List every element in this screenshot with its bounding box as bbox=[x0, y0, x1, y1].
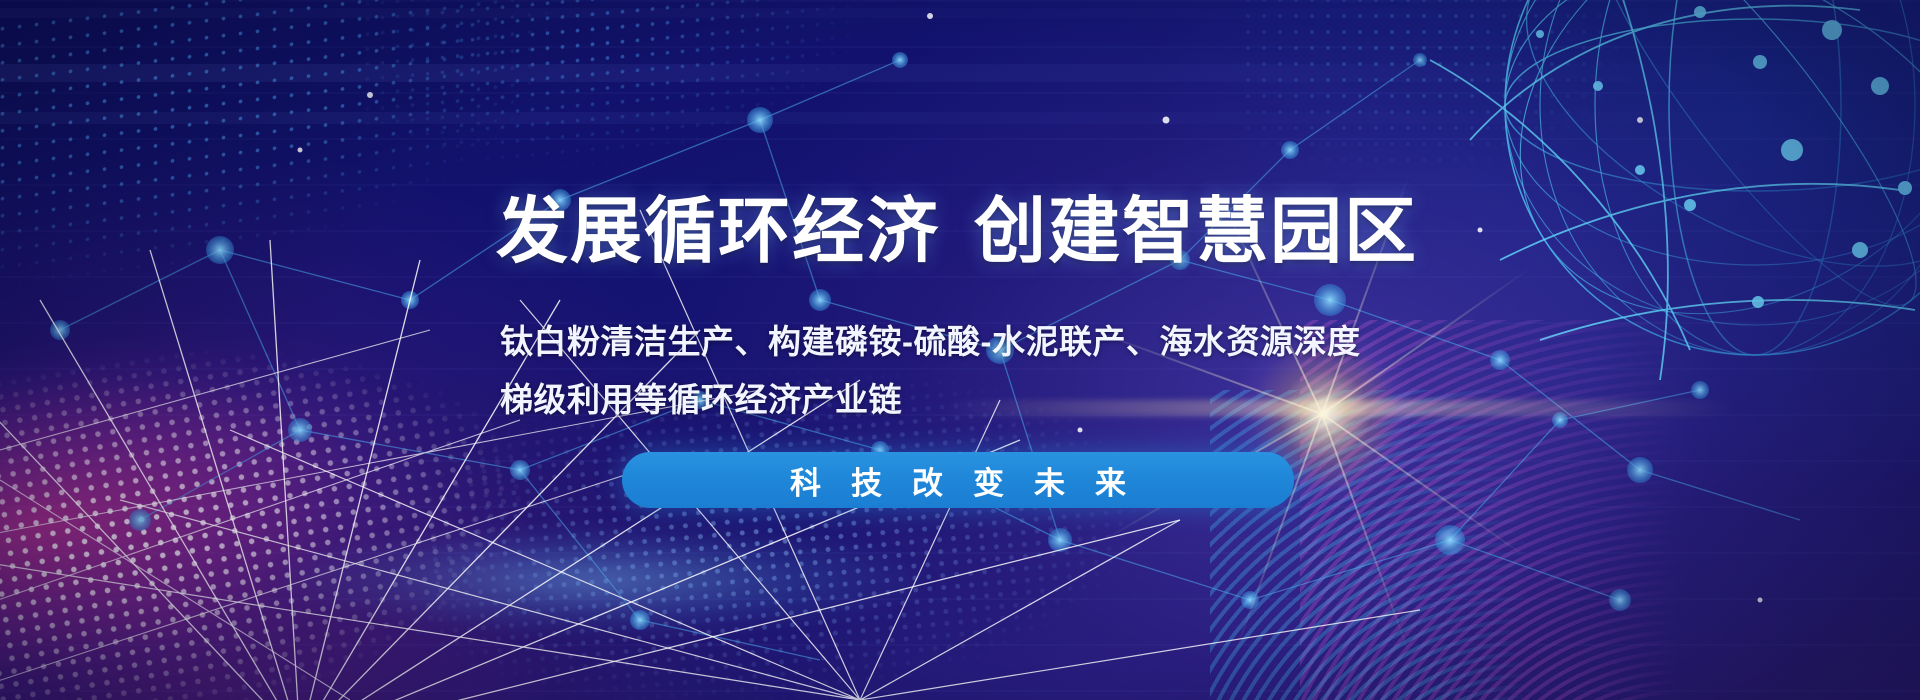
dot-matrix-icon bbox=[1240, 0, 1800, 260]
subtitle-line-1: 钛白粉清洁生产、构建磷铵-硫酸-水泥联产、海水资源深度 bbox=[500, 325, 1360, 358]
scanline-overlay bbox=[0, 0, 1920, 700]
dot-matrix-icon bbox=[0, 0, 700, 355]
cta-button-label: 科技改变未来 bbox=[760, 458, 1156, 503]
scan-band bbox=[0, 8, 1920, 18]
headline-part-2: 创建智慧园区 bbox=[974, 192, 1418, 272]
scan-band bbox=[0, 112, 1920, 124]
lens-flare-icon bbox=[1321, 414, 1425, 697]
lens-flare-icon bbox=[1040, 310, 1323, 414]
network-nodes-icon bbox=[0, 0, 1920, 700]
lens-flare-icon bbox=[1321, 413, 1568, 587]
scan-band bbox=[0, 64, 1920, 82]
cta-button[interactable]: 科技改变未来 bbox=[622, 452, 1294, 508]
page-title: 发展循环经济创建智慧园区 bbox=[496, 196, 1418, 268]
halftone-fan-icon bbox=[1300, 320, 1920, 700]
subtitle-line-2: 梯级利用等循环经济产业链 bbox=[500, 383, 902, 416]
headline-part-1: 发展循环经济 bbox=[496, 192, 940, 272]
dot-matrix-icon bbox=[360, 0, 980, 247]
wave-crest-glow bbox=[180, 520, 1080, 700]
lens-flare-icon bbox=[1194, 142, 1323, 415]
lens-flare-icon bbox=[1321, 241, 1568, 415]
lens-flare-icon bbox=[940, 400, 1740, 416]
lens-flare-icon bbox=[1321, 132, 1425, 415]
vignette-overlay bbox=[0, 0, 1920, 700]
hero-banner: 发展循环经济创建智慧园区 钛白粉清洁生产、构建磷铵-硫酸-水泥联产、海水资源深度… bbox=[0, 0, 1920, 700]
halftone-fan-icon bbox=[1210, 390, 1850, 700]
banner-content: 发展循环经济创建智慧园区 钛白粉清洁生产、构建磷铵-硫酸-水泥联产、海水资源深度… bbox=[0, 0, 1920, 700]
